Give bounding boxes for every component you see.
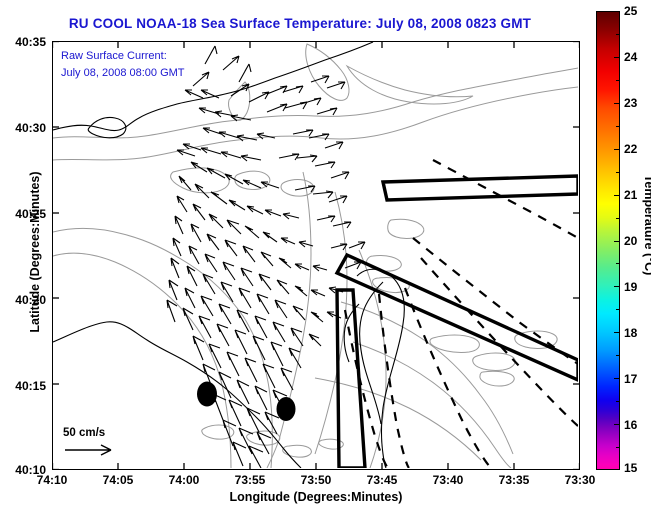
colorbar-tick-marks: [596, 11, 620, 470]
x-tick-label: 73:40: [413, 473, 483, 487]
colorbar-tick-label: 21: [624, 188, 637, 202]
colorbar-tick-label: 15: [624, 461, 637, 475]
colorbar-tick-label: 20: [624, 234, 637, 248]
colorbar-tick-label: 23: [624, 96, 637, 110]
colorbar-tick-label: 18: [624, 326, 637, 340]
x-tick-label: 74:10: [17, 473, 87, 487]
x-tick-label: 73:35: [479, 473, 549, 487]
y-tick-label: 40:15: [0, 379, 46, 393]
y-tick-label: 40:35: [0, 35, 46, 49]
x-tick-label: 73:55: [215, 473, 285, 487]
colorbar-tick-label: 25: [624, 4, 637, 18]
colorbar-tick-label: 17: [624, 372, 637, 386]
x-tick-label: 73:50: [281, 473, 351, 487]
x-tick-label: 74:05: [83, 473, 153, 487]
colorbar-tick-label: 16: [624, 418, 637, 432]
x-tick-label: 73:45: [347, 473, 417, 487]
colorbar-tick-label: 19: [624, 280, 637, 294]
x-tick-label: 73:30: [545, 473, 615, 487]
colorbar-tick-label: 24: [624, 50, 637, 64]
figure-title: RU COOL NOAA-18 Sea Surface Temperature:…: [0, 16, 600, 31]
sst-map-figure: RU COOL NOAA-18 Sea Surface Temperature:…: [0, 0, 651, 518]
y-axis-title: Latitude (Degrees:Minutes): [28, 132, 42, 372]
colorbar-tick-label: 22: [624, 142, 637, 156]
axis-tick-marks: [52, 41, 580, 470]
colorbar-title: Temperature (°C): [642, 145, 651, 305]
x-axis-title: Longitude (Degrees:Minutes): [52, 490, 580, 504]
x-tick-label: 74:00: [149, 473, 219, 487]
